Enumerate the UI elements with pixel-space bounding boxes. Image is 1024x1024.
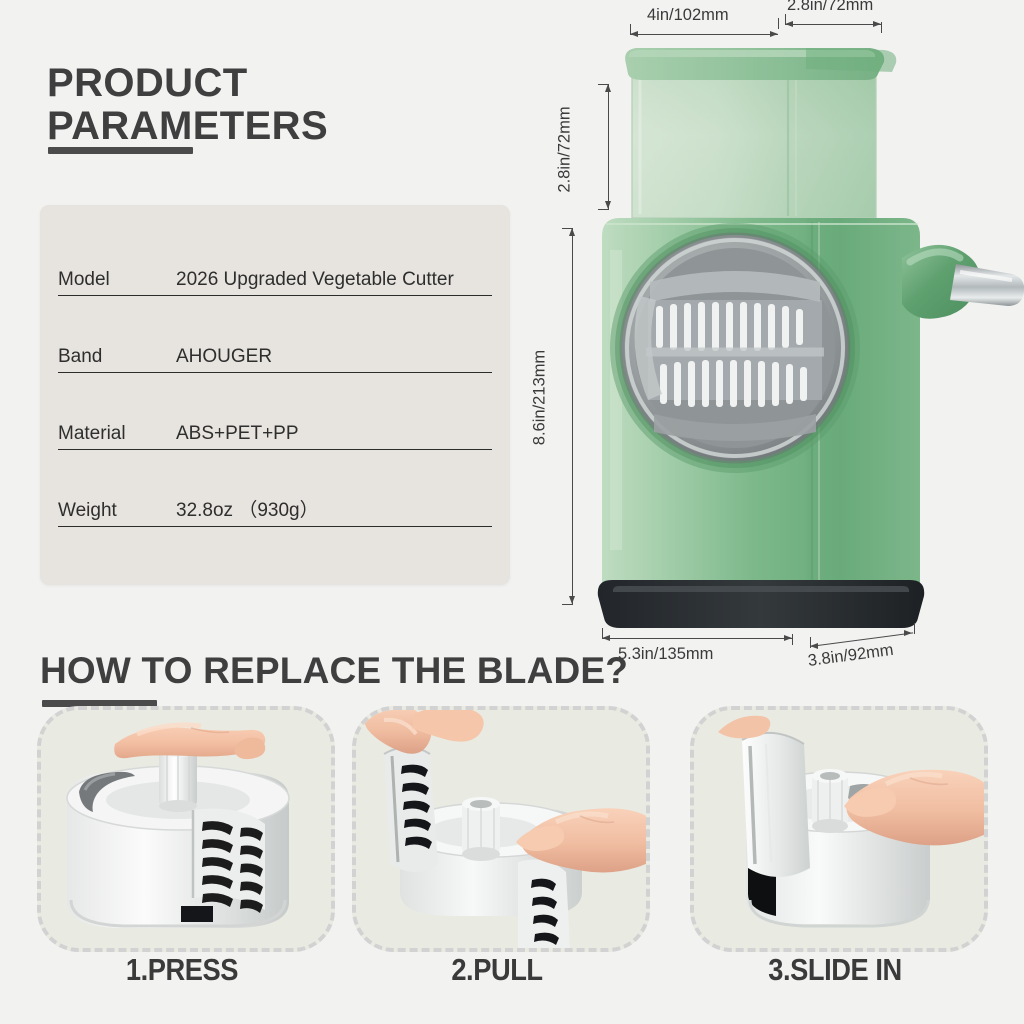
hands-pulling-blade-sleeve-icon bbox=[356, 710, 646, 948]
list-item: 3.SLIDE IN bbox=[690, 706, 980, 956]
dimension-label-top-left: 4in/102mm bbox=[647, 6, 729, 25]
infographic-page: PRODUCT PARAMETERS Model 2026 Upgraded V… bbox=[0, 0, 1024, 1024]
spec-value: 2026 Upgraded Vegetable Cutter bbox=[176, 269, 454, 295]
hand-sliding-blade-panel-icon bbox=[694, 710, 984, 948]
page-title-product-parameters: PRODUCT PARAMETERS bbox=[47, 62, 328, 148]
accent-bar-product bbox=[48, 147, 193, 154]
list-item: 1.PRESS bbox=[37, 706, 327, 956]
spec-label: Model bbox=[58, 269, 176, 295]
table-row: Material ABS+PET+PP bbox=[58, 397, 492, 474]
table-row: Weight 32.8oz （930g） bbox=[58, 474, 492, 551]
table-row: Band AHOUGER bbox=[58, 320, 492, 397]
spec-value: 32.8oz （930g） bbox=[176, 495, 319, 526]
spec-table: Model 2026 Upgraded Vegetable Cutter Ban… bbox=[58, 243, 492, 551]
step-1-image-frame bbox=[37, 706, 335, 952]
product-image-with-dimensions: 4in/102mm 2.8in/72mm 2.8in/72mm bbox=[520, 0, 1024, 700]
page-title-how-to-replace-blade: HOW TO REPLACE THE BLADE? bbox=[40, 651, 628, 691]
step-caption: 3.SLIDE IN bbox=[707, 952, 962, 988]
spec-label: Band bbox=[58, 346, 176, 372]
step-3-image-frame bbox=[690, 706, 988, 952]
step-caption: 1.PRESS bbox=[54, 952, 309, 988]
dimension-label-left-main: 8.6in/213mm bbox=[531, 343, 550, 453]
spec-card: Model 2026 Upgraded Vegetable Cutter Ban… bbox=[40, 205, 510, 585]
step-2-image-frame bbox=[352, 706, 650, 952]
spec-value: ABS+PET+PP bbox=[176, 423, 299, 449]
spec-label: Material bbox=[58, 423, 176, 449]
list-item: 2.PULL bbox=[352, 706, 642, 956]
dimension-label-bottom-front: 5.3in/135mm bbox=[618, 645, 713, 664]
dimension-label-top-right: 2.8in/72mm bbox=[787, 0, 873, 15]
spec-value: AHOUGER bbox=[176, 346, 272, 372]
steps-list: 1.PRESS bbox=[0, 706, 1024, 1024]
dimension-label-left-upper: 2.8in/72mm bbox=[556, 100, 575, 200]
spec-label: Weight bbox=[58, 500, 176, 526]
product-illustration bbox=[520, 0, 1024, 700]
step-caption: 2.PULL bbox=[369, 952, 624, 988]
table-row: Model 2026 Upgraded Vegetable Cutter bbox=[58, 243, 492, 320]
hand-pressing-drum-post-icon bbox=[41, 710, 331, 948]
